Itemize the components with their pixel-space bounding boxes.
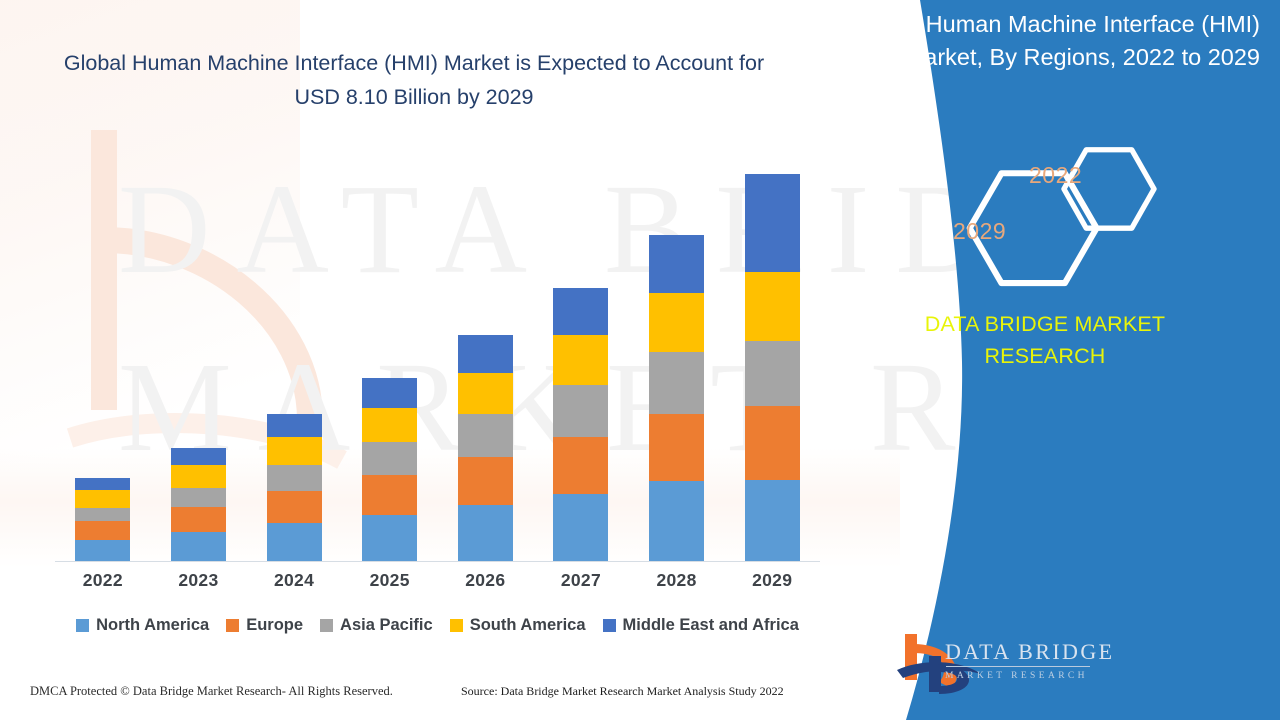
x-axis-tick-label: 2026 [438, 570, 534, 591]
bar-segment [267, 414, 322, 437]
x-axis-tick-label: 2028 [629, 570, 725, 591]
bar-segment [171, 448, 226, 466]
bar-segment [553, 437, 608, 494]
bar-segment [553, 288, 608, 335]
logo-name: DATA BRIDGE [945, 640, 1115, 664]
chart-bars [55, 150, 820, 561]
bar-segment [362, 378, 417, 408]
bar-group [151, 150, 247, 561]
legend-swatch-icon [450, 619, 463, 632]
page-title: Global Human Machine Interface (HMI) Mar… [40, 46, 788, 114]
bar-segment [458, 414, 513, 457]
bar-segment [458, 373, 513, 415]
x-axis-tick-label: 2025 [342, 570, 438, 591]
bar-group [629, 150, 725, 561]
x-axis-tick-label: 2024 [246, 570, 342, 591]
legend-swatch-icon [320, 619, 333, 632]
bar-segment [75, 490, 130, 508]
bar-segment [649, 293, 704, 351]
x-axis-tick-label: 2022 [55, 570, 151, 591]
stacked-bar [267, 414, 322, 561]
bar-segment [649, 352, 704, 414]
brand-wordmark: DATA BRIDGE MARKET RESEARCH [830, 308, 1260, 372]
bar-segment [267, 437, 322, 465]
x-axis-tick-label: 2027 [533, 570, 629, 591]
legend-label: Europe [246, 616, 303, 635]
legend-label: Middle East and Africa [623, 616, 799, 635]
bar-segment [458, 457, 513, 505]
brand-line-1: DATA BRIDGE MARKET [830, 308, 1260, 340]
legend-label: North America [96, 616, 209, 635]
legend-swatch-icon [76, 619, 89, 632]
x-axis-labels: 20222023202420252026202720282029 [55, 570, 820, 591]
legend-item[interactable]: Middle East and Africa [603, 616, 799, 635]
bar-segment [649, 235, 704, 294]
stacked-bar [458, 335, 513, 561]
chart-legend: North AmericaEuropeAsia PacificSouth Ame… [55, 616, 820, 635]
legend-item[interactable]: Europe [226, 616, 303, 635]
infographic-canvas: DATA BRIDGE MARKET RESEARCH Global Human… [0, 0, 1280, 720]
bar-segment [745, 174, 800, 272]
stacked-bar [745, 174, 800, 561]
x-axis-tick-label: 2029 [724, 570, 820, 591]
bar-segment [171, 507, 226, 532]
data-bridge-logo-text: DATA BRIDGE MARKET RESEARCH [945, 640, 1115, 682]
bar-segment [75, 508, 130, 521]
bar-group [342, 150, 438, 561]
legend-item[interactable]: Asia Pacific [320, 616, 433, 635]
bar-segment [362, 408, 417, 442]
logo-divider [946, 666, 1090, 667]
bar-segment [75, 521, 130, 540]
stacked-bar [75, 478, 130, 561]
brand-line-2: RESEARCH [830, 340, 1260, 372]
bar-segment [75, 478, 130, 490]
legend-label: Asia Pacific [340, 616, 433, 635]
stacked-bar [649, 235, 704, 561]
legend-swatch-icon [603, 619, 616, 632]
bar-segment [458, 335, 513, 373]
stacked-bar-chart [55, 150, 820, 562]
bar-segment [267, 491, 322, 523]
logo-subtitle: MARKET RESEARCH [945, 670, 1115, 682]
footer-source: Source: Data Bridge Market Research Mark… [461, 684, 784, 699]
stacked-bar [362, 378, 417, 561]
bar-segment [553, 335, 608, 385]
x-axis-tick-label: 2023 [151, 570, 247, 591]
panel-title: Global Human Machine Interface (HMI) Mar… [850, 8, 1260, 74]
bar-group [533, 150, 629, 561]
bar-segment [75, 540, 130, 561]
bar-segment [171, 488, 226, 507]
right-brand-panel: Global Human Machine Interface (HMI) Mar… [810, 0, 1280, 720]
legend-item[interactable]: South America [450, 616, 586, 635]
bar-segment [458, 505, 513, 561]
bar-group [438, 150, 534, 561]
bar-group [724, 150, 820, 561]
stacked-bar [171, 448, 226, 561]
legend-label: South America [470, 616, 586, 635]
bar-segment [553, 385, 608, 437]
bar-segment [171, 532, 226, 561]
bar-segment [362, 442, 417, 475]
bar-segment [745, 272, 800, 341]
bar-segment [745, 341, 800, 406]
bar-segment [171, 465, 226, 487]
bar-segment [362, 515, 417, 561]
bar-segment [362, 475, 417, 514]
x-axis-line [55, 561, 820, 562]
bar-segment [267, 523, 322, 561]
bar-segment [745, 406, 800, 481]
stacked-bar [553, 288, 608, 561]
bar-segment [649, 481, 704, 561]
legend-swatch-icon [226, 619, 239, 632]
bar-segment [267, 465, 322, 491]
bar-segment [553, 494, 608, 561]
bar-group [55, 150, 151, 561]
bar-segment [745, 480, 800, 561]
legend-item[interactable]: North America [76, 616, 209, 635]
bar-segment [649, 414, 704, 481]
footer-copyright: DMCA Protected © Data Bridge Market Rese… [30, 684, 393, 699]
bar-group [246, 150, 342, 561]
